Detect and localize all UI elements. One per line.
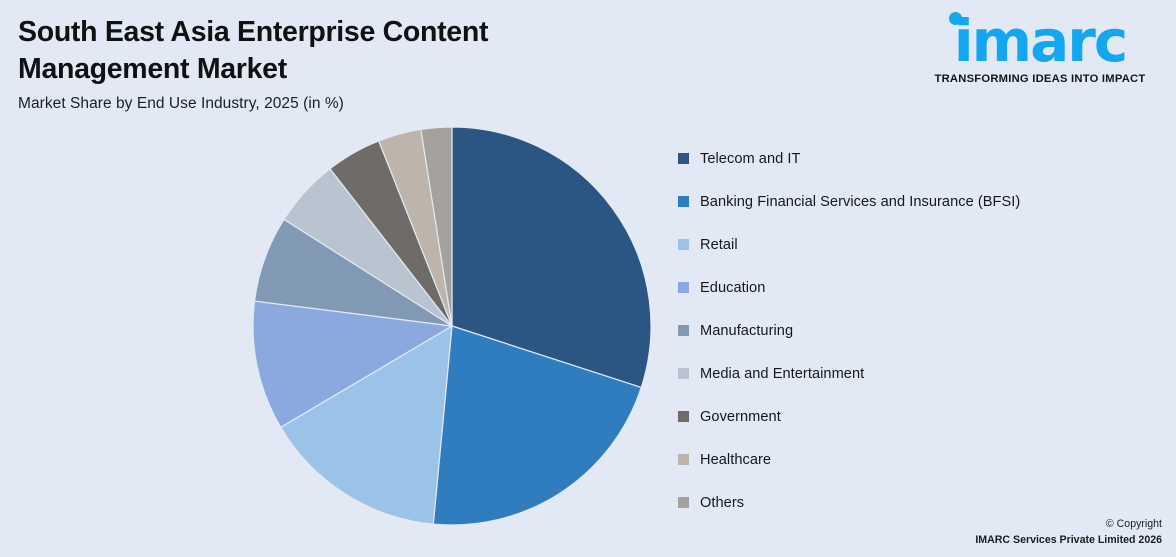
legend-swatch-icon xyxy=(678,454,689,465)
legend-swatch-icon xyxy=(678,153,689,164)
legend-label: Others xyxy=(700,495,744,511)
legend-swatch-icon xyxy=(678,368,689,379)
legend-label: Healthcare xyxy=(700,452,771,468)
pie-chart xyxy=(252,126,652,526)
legend-item[interactable]: Telecom and IT xyxy=(678,137,1148,180)
logo-dot-icon xyxy=(949,12,962,25)
copyright-line-1: © Copyright xyxy=(975,517,1162,533)
legend-swatch-icon xyxy=(678,497,689,508)
copyright-notice: © Copyright IMARC Services Private Limit… xyxy=(975,517,1162,549)
legend-label: Government xyxy=(700,409,781,425)
chart-legend: Telecom and ITBanking Financial Services… xyxy=(678,137,1148,524)
chart-page: South East Asia Enterprise Content Manag… xyxy=(0,0,1176,557)
copyright-line-2: IMARC Services Private Limited 2026 xyxy=(975,533,1162,549)
legend-item[interactable]: Healthcare xyxy=(678,438,1148,481)
legend-label: Retail xyxy=(700,237,738,253)
imarc-logo: imarc TRANSFORMING IDEAS INTO IMPACT xyxy=(920,10,1160,85)
legend-label: Banking Financial Services and Insurance… xyxy=(700,194,1020,210)
legend-label: Telecom and IT xyxy=(700,151,800,167)
pie-chart-svg xyxy=(252,126,652,526)
legend-item[interactable]: Retail xyxy=(678,223,1148,266)
legend-item[interactable]: Government xyxy=(678,395,1148,438)
legend-label: Media and Entertainment xyxy=(700,366,864,382)
chart-header: South East Asia Enterprise Content Manag… xyxy=(18,14,658,113)
legend-swatch-icon xyxy=(678,196,689,207)
page-title: South East Asia Enterprise Content Manag… xyxy=(18,14,658,88)
legend-swatch-icon xyxy=(678,325,689,336)
legend-swatch-icon xyxy=(678,411,689,422)
legend-swatch-icon xyxy=(678,239,689,250)
legend-swatch-icon xyxy=(678,282,689,293)
legend-item[interactable]: Media and Entertainment xyxy=(678,352,1148,395)
legend-label: Manufacturing xyxy=(700,323,793,339)
legend-item[interactable]: Education xyxy=(678,266,1148,309)
chart-subtitle: Market Share by End Use Industry, 2025 (… xyxy=(18,95,658,113)
legend-item[interactable]: Banking Financial Services and Insurance… xyxy=(678,180,1148,223)
legend-label: Education xyxy=(700,280,765,296)
logo-mark: imarc xyxy=(920,10,1160,72)
legend-item[interactable]: Manufacturing xyxy=(678,309,1148,352)
